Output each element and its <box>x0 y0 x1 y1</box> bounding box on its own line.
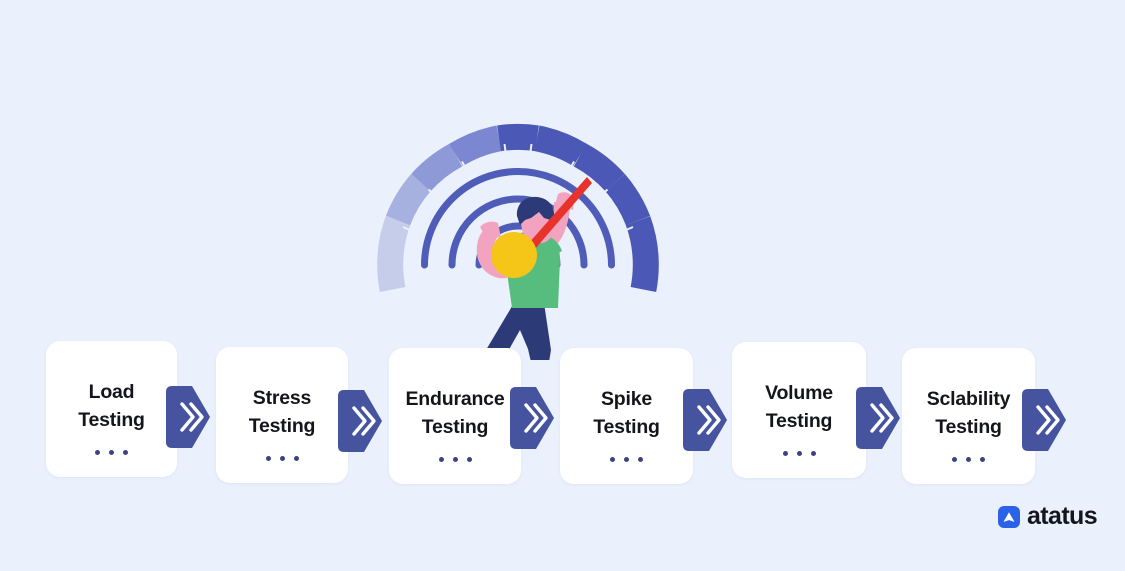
testing-types-row: Load Testing Stress Testing <box>0 336 1125 486</box>
testing-card-volume[interactable]: Volume Testing <box>732 342 866 478</box>
testing-card-stress[interactable]: Stress Testing <box>216 347 348 483</box>
testing-card-label: Volume Testing <box>732 379 866 435</box>
testing-card-label: Stress Testing <box>216 384 348 440</box>
testing-card-scalability[interactable]: Sclability Testing <box>902 348 1035 484</box>
testing-card-label: Load Testing <box>46 378 177 434</box>
card-dots <box>952 457 985 462</box>
chevron-right-icon <box>338 390 382 452</box>
brand-logo: atatus <box>998 504 1097 529</box>
testing-card-endurance[interactable]: Endurance Testing <box>389 348 521 484</box>
chevron-right-icon <box>683 389 727 451</box>
card-dots <box>439 457 472 462</box>
card-dots <box>783 451 816 456</box>
atatus-wordmark: atatus <box>1027 504 1097 529</box>
testing-card-spike[interactable]: Spike Testing <box>560 348 693 484</box>
performance-gauge-illustration <box>368 50 668 360</box>
chevron-right-icon <box>1022 389 1066 451</box>
chevron-right-icon <box>856 387 900 449</box>
chevron-right-icon <box>166 386 210 448</box>
gauge-pivot <box>491 232 537 278</box>
card-dots <box>610 457 643 462</box>
testing-card-label: Endurance Testing <box>389 385 521 441</box>
testing-card-label: Sclability Testing <box>902 385 1035 441</box>
testing-card-label: Spike Testing <box>560 385 693 441</box>
atatus-mark-icon <box>998 506 1020 528</box>
testing-card-load[interactable]: Load Testing <box>46 341 177 477</box>
chevron-right-icon <box>510 387 554 449</box>
card-dots <box>95 450 128 455</box>
page-canvas: Load Testing Stress Testing <box>0 0 1125 571</box>
card-dots <box>266 456 299 461</box>
